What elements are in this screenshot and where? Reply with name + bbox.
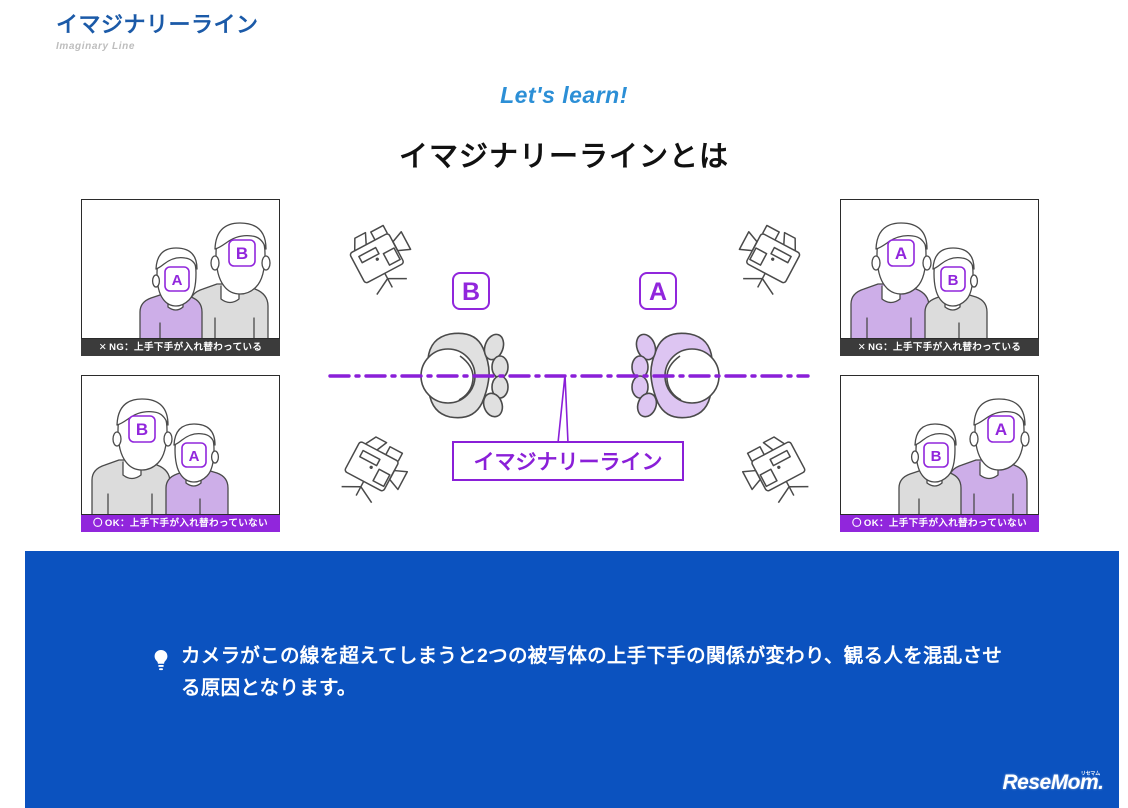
caption-bar-top-right: ✕NG：上手下手が入れ替わっている — [840, 339, 1039, 356]
panel-bottom-left: B A 〇OK：上手下手が入れ替わっていない — [81, 375, 280, 532]
svg-text:A: A — [189, 448, 200, 465]
callout-imaginary-line: イマジナリーライン — [453, 442, 683, 480]
photo-frame-bottom-right: A B — [840, 375, 1039, 515]
caption-text: NG：上手下手が入れ替わっている — [868, 342, 1021, 353]
camera-bottom-left — [337, 431, 415, 511]
svg-text:B: B — [136, 420, 148, 439]
caption-text: NG：上手下手が入れ替わっている — [109, 342, 262, 353]
chip-a-overhead: A — [640, 273, 676, 309]
svg-text:イマジナリーライン: イマジナリーライン — [474, 451, 663, 474]
svg-text:A: A — [895, 244, 907, 263]
caption-bar-bottom-left: 〇OK：上手下手が入れ替わっていない — [81, 515, 280, 532]
two-people-illustration-b-right-a-left: B A — [82, 200, 280, 339]
panel-bottom-right: A B 〇OK：上手下手が入れ替わっていない — [840, 375, 1039, 532]
caption-bar-top-left: ✕NG：上手下手が入れ替わっている — [81, 339, 280, 356]
label-chip-b: B — [129, 416, 155, 442]
resemom-logo: ReseMom. リセマム — [997, 766, 1109, 800]
label-chip-b: B — [941, 267, 965, 291]
caption-text: OK：上手下手が入れ替わっていない — [864, 518, 1027, 529]
slide-header: イマジナリーライン Imaginary Line — [56, 12, 259, 52]
caption-mark: 〇 — [93, 518, 103, 529]
banner-text: カメラがこの線を超えてしまうと2つの被写体の上手下手の関係が変わり、観る人を混乱… — [181, 641, 1014, 704]
svg-text:A: A — [649, 278, 667, 306]
header-title: イマジナリーライン — [56, 12, 259, 38]
label-chip-a: A — [888, 240, 914, 266]
svg-text:B: B — [948, 272, 959, 289]
svg-text:A: A — [172, 272, 183, 289]
label-chip-a: A — [182, 443, 206, 467]
header-subtitle: Imaginary Line — [56, 41, 259, 52]
two-people-illustration-b-left-a-right: B A — [82, 376, 280, 515]
imaginary-line-diagram: B A イマジナリーライン — [300, 195, 840, 540]
photo-frame-top-right: A B — [840, 199, 1039, 339]
chip-b-overhead: B — [453, 273, 489, 309]
svg-text:B: B — [462, 278, 480, 306]
camera-top-left — [344, 218, 422, 298]
two-people-illustration-b-left-a-right-purple: A B — [841, 376, 1039, 515]
svg-text:B: B — [931, 448, 942, 465]
logo-badge: リセマム — [1081, 770, 1100, 777]
panel-top-left: B A ✕NG：上手下手が入れ替わっている — [81, 199, 280, 356]
page-title: イマジナリーラインとは — [0, 133, 1128, 175]
caption-mark: ✕ — [99, 342, 107, 353]
banner-content: カメラがこの線を超えてしまうと2つの被写体の上手下手の関係が変わり、観る人を混乱… — [153, 641, 1014, 704]
panel-top-right: A B ✕NG：上手下手が入れ替わっている — [840, 199, 1039, 356]
photo-frame-top-left: B A — [81, 199, 280, 339]
caption-mark: ✕ — [858, 342, 866, 353]
two-people-illustration-a-left-b-right: A B — [841, 200, 1039, 339]
camera-bottom-right — [735, 431, 813, 511]
caption-mark: 〇 — [852, 518, 862, 529]
label-chip-a: A — [988, 416, 1014, 442]
svg-text:B: B — [236, 244, 248, 263]
caption-bar-bottom-right: 〇OK：上手下手が入れ替わっていない — [840, 515, 1039, 532]
label-chip-a: A — [165, 267, 189, 291]
info-banner: カメラがこの線を超えてしまうと2つの被写体の上手下手の関係が変わり、観る人を混乱… — [25, 551, 1119, 808]
camera-top-right — [728, 218, 806, 298]
label-chip-b: B — [229, 240, 255, 266]
caption-text: OK：上手下手が入れ替わっていない — [105, 518, 268, 529]
svg-text:A: A — [995, 420, 1007, 439]
callout-leader — [558, 375, 568, 443]
photo-frame-bottom-left: B A — [81, 375, 280, 515]
lightbulb-icon — [153, 649, 169, 678]
eyebrow-title: Let's learn! — [0, 82, 1128, 109]
label-chip-b: B — [924, 443, 948, 467]
slide-root: イマジナリーライン Imaginary Line Let's learn! イマ… — [0, 0, 1128, 808]
